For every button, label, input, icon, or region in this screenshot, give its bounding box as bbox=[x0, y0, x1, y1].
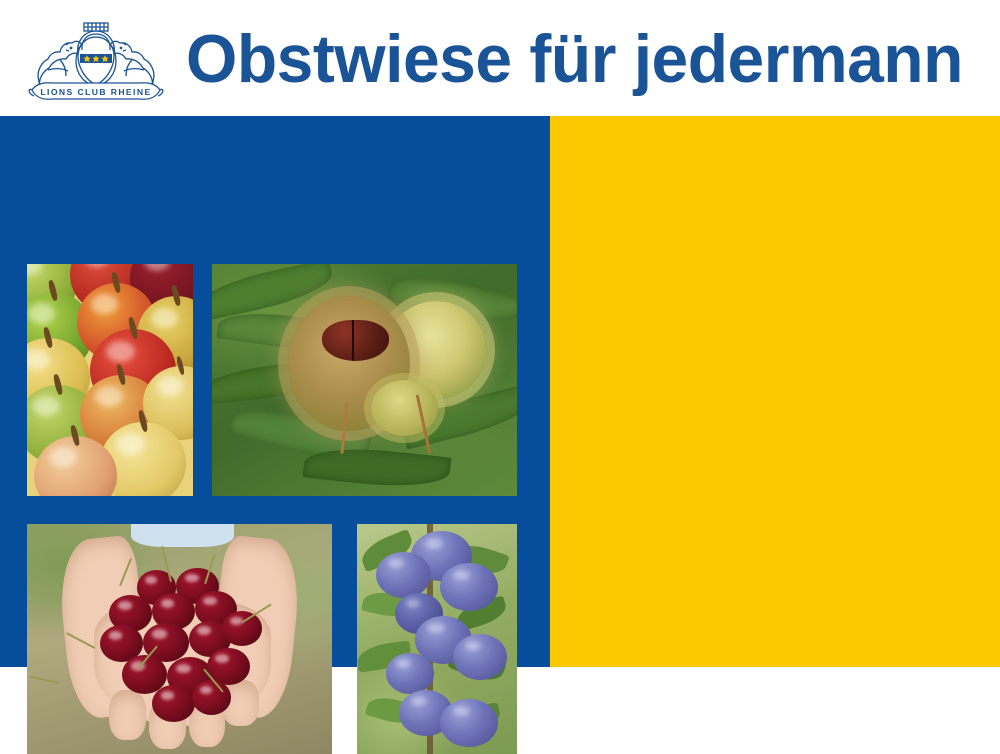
header-band: LIONS CLUB RHEINE Obstwiese für jederman… bbox=[0, 0, 1000, 116]
photo-plums bbox=[357, 524, 517, 754]
photo-apples bbox=[27, 264, 193, 496]
lions-club-banner-text: LIONS CLUB RHEINE bbox=[40, 87, 151, 97]
photo-chestnuts bbox=[212, 264, 517, 496]
page-title: Obstwiese für jedermann bbox=[186, 14, 963, 104]
poster-root: LIONS CLUB RHEINE Obstwiese für jederman… bbox=[0, 0, 1000, 667]
photo-cherries bbox=[27, 524, 332, 754]
info-panel: Diese Obstwiese wurde im Jahr 2022 vom L… bbox=[550, 116, 1000, 667]
photo-panel bbox=[0, 116, 550, 667]
lions-club-crest-icon: LIONS CLUB RHEINE bbox=[22, 14, 170, 106]
